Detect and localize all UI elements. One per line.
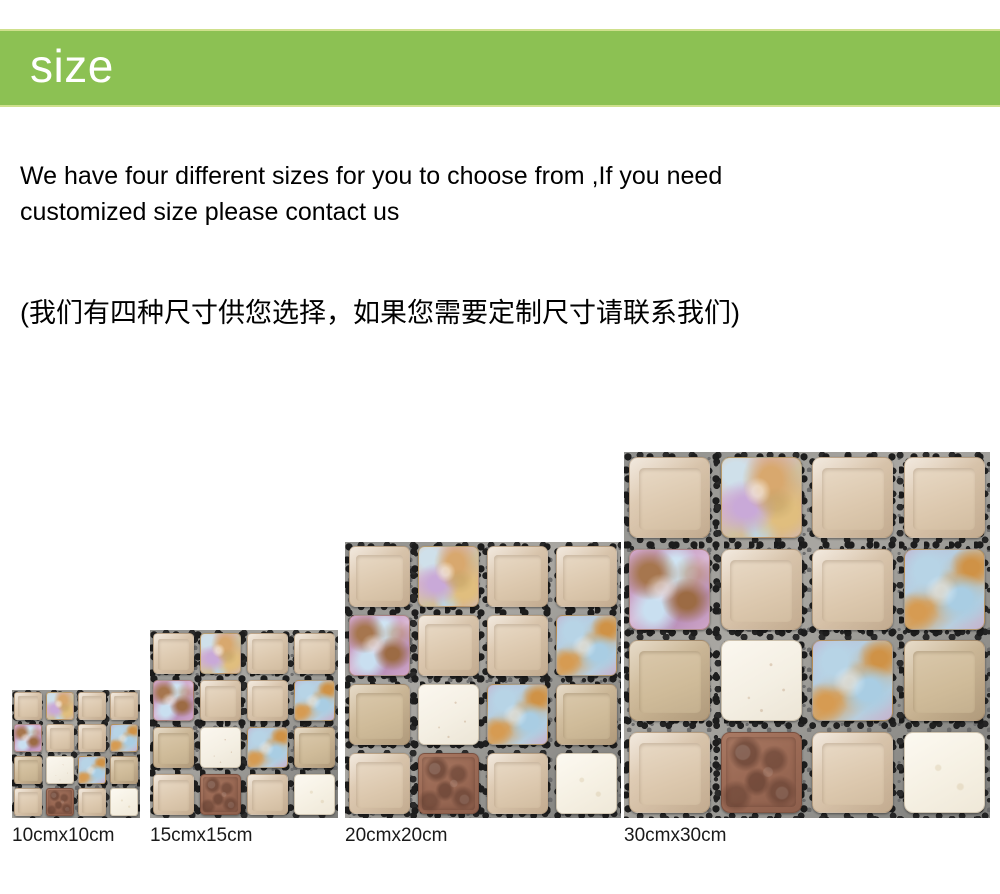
mosaic-tile-irid-purple: [629, 549, 710, 630]
mosaic-tile-beige-d: [294, 727, 336, 769]
mosaic-tile-beige: [487, 753, 548, 814]
mosaic-tile-ivory: [904, 732, 985, 813]
mosaic-tile-cream: [46, 756, 75, 785]
mosaic-tile-irid-gold: [46, 692, 75, 721]
mosaic-tile-irid-purple: [349, 615, 410, 676]
mosaic-tile-irid-blue: [110, 724, 139, 753]
mosaic-tile-beige: [14, 788, 43, 817]
mosaic-tile-brown: [721, 732, 802, 813]
mosaic-tile-irid-purple: [14, 724, 43, 753]
mosaic-tile-beige-d: [556, 684, 617, 745]
mosaic-tile-beige: [153, 633, 195, 675]
mosaic-tile-cream: [200, 727, 242, 769]
mosaic-tile-beige: [418, 615, 479, 676]
mosaic-tile-beige: [200, 680, 242, 722]
mosaic-tile-cream: [418, 684, 479, 745]
mosaic-tile-beige-d: [904, 640, 985, 721]
mosaic-tile-beige: [78, 788, 107, 817]
size-sample-15cmx15cm[interactable]: 15cmx15cm: [150, 630, 338, 818]
mosaic-panel: [12, 690, 140, 818]
intro-chinese-text: (我们有四种尺寸供您选择，如果您需要定制尺寸请联系我们): [20, 294, 990, 332]
mosaic-tile-beige: [812, 732, 893, 813]
mosaic-panel: [150, 630, 338, 818]
mosaic-tile-brown: [418, 753, 479, 814]
intro-english-line-2: customized size please contact us: [20, 194, 990, 230]
mosaic-tile-beige: [78, 692, 107, 721]
mosaic-tile-cream: [721, 640, 802, 721]
mosaic-tile-beige: [812, 457, 893, 538]
mosaic-tile-beige: [294, 633, 336, 675]
mosaic-tile-irid-blue: [78, 756, 107, 785]
mosaic-tile-irid-blue: [487, 684, 548, 745]
mosaic-tile-irid-blue: [247, 727, 289, 769]
section-header-banner: size: [0, 29, 1000, 107]
page-title: size: [0, 43, 114, 89]
mosaic-tile-beige-d: [14, 756, 43, 785]
mosaic-tile-irid-blue: [556, 615, 617, 676]
mosaic-tile-beige: [904, 457, 985, 538]
mosaic-tile-beige: [46, 724, 75, 753]
size-sample-label: 30cmx30cm: [624, 825, 726, 847]
mosaic-tile-beige: [812, 549, 893, 630]
mosaic-tile-beige: [78, 724, 107, 753]
mosaic-tile-beige: [487, 546, 548, 607]
mosaic-tile-beige: [629, 457, 710, 538]
mosaic-tile-beige-d: [349, 684, 410, 745]
mosaic-tile-beige: [153, 774, 195, 816]
mosaic-tile-irid-gold: [721, 457, 802, 538]
mosaic-tile-beige-d: [153, 727, 195, 769]
size-sample-20cmx20cm[interactable]: 20cmx20cm: [345, 542, 621, 818]
size-sample-10cmx10cm[interactable]: 10cmx10cm: [12, 690, 140, 818]
intro-english-line-1: We have four different sizes for you to …: [20, 158, 990, 194]
mosaic-tile-beige: [110, 692, 139, 721]
mosaic-tile-beige: [247, 774, 289, 816]
size-sample-label: 10cmx10cm: [12, 825, 114, 847]
mosaic-tile-beige: [721, 549, 802, 630]
mosaic-tile-beige: [487, 615, 548, 676]
mosaic-tile-irid-gold: [200, 633, 242, 675]
mosaic-tile-beige: [349, 546, 410, 607]
mosaic-tile-irid-blue: [294, 680, 336, 722]
mosaic-panel: [345, 542, 621, 818]
size-samples-row: 10cmx10cm15cmx15cm20cmx20cm30cmx30cm: [0, 440, 1000, 860]
mosaic-tile-irid-gold: [418, 546, 479, 607]
mosaic-tile-beige: [14, 692, 43, 721]
size-sample-label: 20cmx20cm: [345, 825, 447, 847]
mosaic-tile-ivory: [556, 753, 617, 814]
mosaic-tile-beige: [247, 633, 289, 675]
size-sample-label: 15cmx15cm: [150, 825, 252, 847]
size-sample-30cmx30cm[interactable]: 30cmx30cm: [624, 452, 990, 818]
mosaic-tile-ivory: [110, 788, 139, 817]
mosaic-tile-irid-purple: [153, 680, 195, 722]
mosaic-tile-beige: [556, 546, 617, 607]
mosaic-tile-beige: [349, 753, 410, 814]
mosaic-tile-beige: [247, 680, 289, 722]
mosaic-tile-brown: [46, 788, 75, 817]
mosaic-tile-ivory: [294, 774, 336, 816]
mosaic-tile-beige-d: [110, 756, 139, 785]
mosaic-tile-brown: [200, 774, 242, 816]
mosaic-tile-beige: [629, 732, 710, 813]
mosaic-tile-irid-blue: [812, 640, 893, 721]
mosaic-tile-beige-d: [629, 640, 710, 721]
intro-text-block: We have four different sizes for you to …: [20, 158, 990, 230]
mosaic-panel: [624, 452, 990, 818]
mosaic-tile-irid-blue: [904, 549, 985, 630]
